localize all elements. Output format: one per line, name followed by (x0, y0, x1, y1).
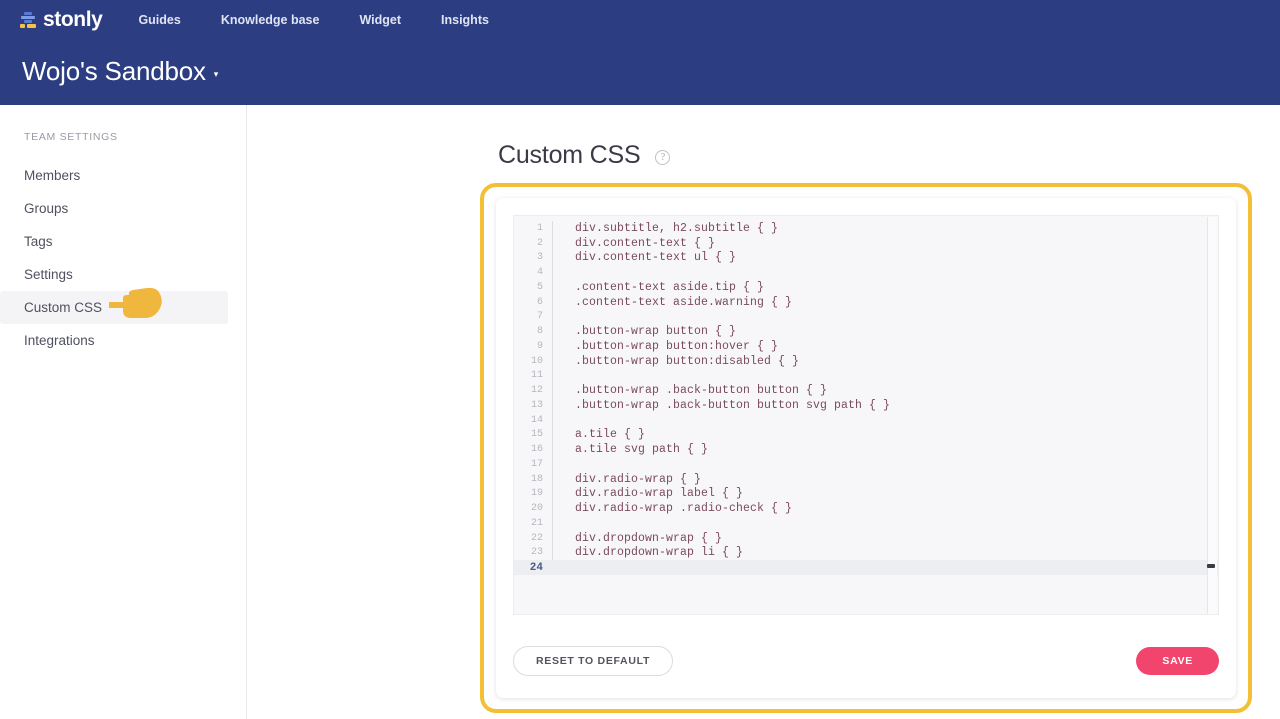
code-lines-container: 1div.subtitle, h2.subtitle { }2div.conte… (514, 221, 1218, 575)
code-line-text: div.subtitle, h2.subtitle { } (553, 222, 778, 235)
line-number: 13 (514, 400, 552, 411)
code-line-text: .content-text aside.warning { } (553, 296, 792, 309)
sidebar-item-label: Groups (24, 201, 68, 216)
sidebar-item-custom-css[interactable]: Custom CSS (0, 291, 228, 324)
code-line-text: div.dropdown-wrap { } (553, 532, 722, 545)
page-title: Custom CSS (498, 141, 640, 170)
code-line[interactable]: 2div.content-text { } (514, 236, 1218, 251)
settings-sidebar: TEAM SETTINGS Members Groups Tags Settin… (0, 105, 247, 719)
line-number: 7 (514, 311, 552, 322)
gutter-separator (552, 310, 553, 325)
code-line[interactable]: 12.button-wrap .back-button button { } (514, 383, 1218, 398)
nav-item-widget[interactable]: Widget (359, 13, 401, 27)
sidebar-item-label: Custom CSS (24, 300, 102, 315)
editor-actions: RESET TO DEFAULT SAVE (513, 646, 1219, 676)
code-line[interactable]: 13.button-wrap .back-button button svg p… (514, 398, 1218, 413)
code-line[interactable]: 23div.dropdown-wrap li { } (514, 546, 1218, 561)
nav-item-guides[interactable]: Guides (138, 13, 180, 27)
code-line[interactable]: 21 (514, 516, 1218, 531)
line-number: 23 (514, 547, 552, 558)
nav-item-insights[interactable]: Insights (441, 13, 489, 27)
code-line[interactable]: 15a.tile { } (514, 428, 1218, 443)
code-line-text: div.radio-wrap label { } (553, 487, 743, 500)
line-number: 12 (514, 385, 552, 396)
chevron-down-icon: ▾ (214, 69, 219, 80)
sidebar-item-label: Tags (24, 234, 53, 249)
code-line[interactable]: 6.content-text aside.warning { } (514, 295, 1218, 310)
line-number: 18 (514, 474, 552, 485)
nav-item-knowledge-base[interactable]: Knowledge base (221, 13, 320, 27)
code-line-text: .button-wrap .back-button button svg pat… (553, 399, 890, 412)
line-number: 22 (514, 533, 552, 544)
save-button[interactable]: SAVE (1136, 647, 1219, 675)
stonly-logo-icon (18, 10, 38, 30)
code-line[interactable]: 14 (514, 413, 1218, 428)
editor-scrollbar-track[interactable] (1207, 217, 1217, 615)
gutter-separator (552, 560, 553, 575)
page-header: Custom CSS ? (248, 105, 1280, 170)
code-line[interactable]: 24 (514, 560, 1218, 575)
code-line-text: a.tile svg path { } (553, 443, 708, 456)
code-line[interactable]: 17 (514, 457, 1218, 472)
sidebar-item-label: Settings (24, 267, 73, 282)
line-number: 6 (514, 297, 552, 308)
sidebar-heading: TEAM SETTINGS (0, 131, 246, 143)
sidebar-item-label: Members (24, 168, 80, 183)
brand-logo[interactable]: stonly (18, 8, 102, 32)
line-number: 16 (514, 444, 552, 455)
code-line[interactable]: 22div.dropdown-wrap { } (514, 531, 1218, 546)
code-line-text: div.content-text ul { } (553, 251, 736, 264)
code-line-text: div.content-text { } (553, 237, 715, 250)
line-number: 21 (514, 518, 552, 529)
code-line[interactable]: 16a.tile svg path { } (514, 442, 1218, 457)
css-code-editor[interactable]: 1div.subtitle, h2.subtitle { }2div.conte… (513, 215, 1219, 615)
line-number: 17 (514, 459, 552, 470)
line-number: 2 (514, 238, 552, 249)
gutter-separator (552, 369, 553, 384)
code-line[interactable]: 10.button-wrap button:disabled { } (514, 354, 1218, 369)
gutter-separator (552, 265, 553, 280)
code-line[interactable]: 3div.content-text ul { } (514, 251, 1218, 266)
nav-links: Guides Knowledge base Widget Insights (138, 13, 528, 27)
code-line[interactable]: 11 (514, 369, 1218, 384)
code-line-text: .button-wrap button:disabled { } (553, 355, 799, 368)
line-number: 4 (514, 267, 552, 278)
editor-scrollbar-thumb[interactable] (1207, 564, 1215, 568)
line-number: 24 (514, 562, 552, 574)
code-line[interactable]: 18div.radio-wrap { } (514, 472, 1218, 487)
main-content: Custom CSS ? 1div.subtitle, h2.subtitle … (248, 105, 1280, 719)
line-number: 14 (514, 415, 552, 426)
help-icon[interactable]: ? (655, 150, 670, 165)
code-line-text: .button-wrap .back-button button { } (553, 384, 827, 397)
sidebar-item-groups[interactable]: Groups (0, 192, 246, 225)
sidebar-item-label: Integrations (24, 333, 95, 348)
sidebar-item-settings[interactable]: Settings (0, 258, 246, 291)
code-line-text: div.dropdown-wrap li { } (553, 546, 743, 559)
line-number: 8 (514, 326, 552, 337)
code-line-text: .button-wrap button:hover { } (553, 340, 778, 353)
sidebar-item-tags[interactable]: Tags (0, 225, 246, 258)
line-number: 19 (514, 488, 552, 499)
code-line-text: div.radio-wrap .radio-check { } (553, 502, 792, 515)
code-line[interactable]: 1div.subtitle, h2.subtitle { } (514, 221, 1218, 236)
sidebar-item-members[interactable]: Members (0, 159, 246, 192)
code-line-text: div.radio-wrap { } (553, 473, 701, 486)
line-number: 1 (514, 223, 552, 234)
brand-name: stonly (43, 8, 102, 32)
code-line[interactable]: 20div.radio-wrap .radio-check { } (514, 501, 1218, 516)
custom-css-card: 1div.subtitle, h2.subtitle { }2div.conte… (496, 198, 1236, 698)
code-line-text: a.tile { } (553, 428, 645, 441)
code-line[interactable]: 5.content-text aside.tip { } (514, 280, 1218, 295)
team-name: Wojo's Sandbox (22, 56, 206, 87)
line-number: 9 (514, 341, 552, 352)
code-line[interactable]: 8.button-wrap button { } (514, 324, 1218, 339)
gutter-separator (552, 457, 553, 472)
line-number: 15 (514, 429, 552, 440)
line-number: 10 (514, 356, 552, 367)
top-header-bar: stonly Guides Knowledge base Widget Insi… (0, 0, 1280, 105)
code-line[interactable]: 7 (514, 310, 1218, 325)
code-line-text: .button-wrap button { } (553, 325, 736, 338)
line-number: 5 (514, 282, 552, 293)
code-line[interactable]: 9.button-wrap button:hover { } (514, 339, 1218, 354)
code-line[interactable]: 19div.radio-wrap label { } (514, 487, 1218, 502)
gutter-separator (552, 413, 553, 428)
line-number: 20 (514, 503, 552, 514)
gutter-separator (552, 516, 553, 531)
code-line[interactable]: 4 (514, 265, 1218, 280)
sidebar-item-integrations[interactable]: Integrations (0, 324, 246, 357)
line-number: 3 (514, 252, 552, 263)
code-line-text: .content-text aside.tip { } (553, 281, 764, 294)
primary-nav: stonly Guides Knowledge base Widget Insi… (0, 0, 1280, 40)
line-number: 11 (514, 370, 552, 381)
reset-to-default-button[interactable]: RESET TO DEFAULT (513, 646, 673, 676)
team-switcher[interactable]: Wojo's Sandbox ▾ (0, 56, 1280, 87)
